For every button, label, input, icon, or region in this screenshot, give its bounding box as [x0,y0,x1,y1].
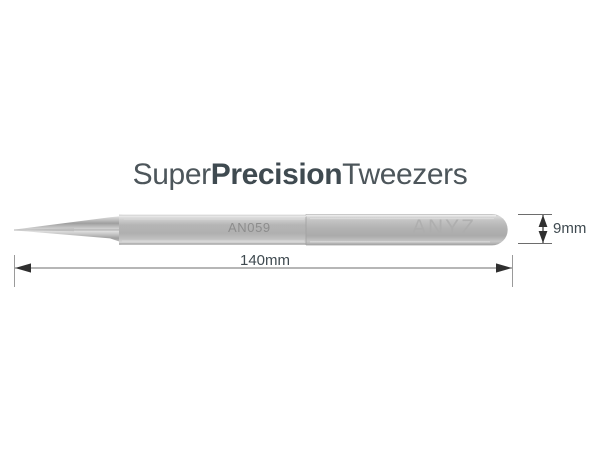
title-part-super: Super [133,158,211,191]
dimension-height-label: 9mm [553,220,586,237]
product-diagram-canvas: SuperPrecisionTweezers [0,0,600,450]
title-part-precision: Precision [211,158,342,191]
dimension-height [518,206,558,258]
title-part-tweezers: Tweezers [342,158,467,191]
model-number-label: AN059 [228,220,271,235]
dimension-length-label: 140mm [0,252,530,269]
page-title: SuperPrecisionTweezers [0,158,600,192]
brand-logo: ANYZ [412,216,476,240]
